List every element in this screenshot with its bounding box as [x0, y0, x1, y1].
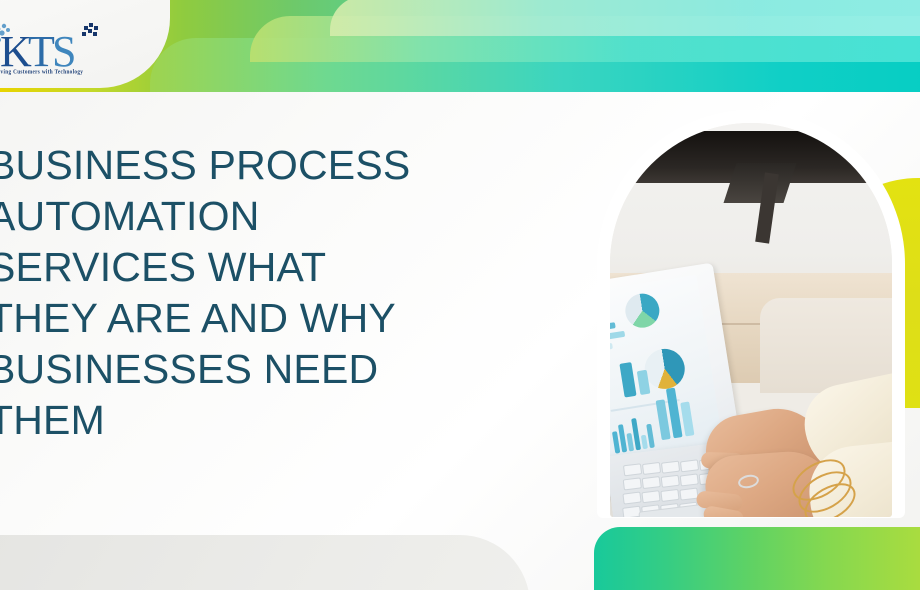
title-line: THEY ARE AND WHY — [0, 293, 548, 344]
title-line: BUSINESS PROCESS — [0, 140, 548, 191]
screen-bar — [619, 362, 636, 397]
bottom-gradient-bar — [594, 527, 920, 590]
brand-tagline: Serving Customers with Technology — [0, 69, 122, 76]
page-title: BUSINESS PROCESS AUTOMATION SERVICES WHA… — [0, 140, 548, 446]
title-line: AUTOMATION — [0, 191, 548, 242]
svg-text:T: T — [28, 27, 55, 72]
slide-canvas: K T S Serving Customers with Technology … — [0, 0, 920, 590]
screen-bar — [680, 401, 694, 436]
bottom-left-soft-shape — [0, 535, 530, 590]
screen-donut-chart — [623, 291, 662, 330]
svg-text:S: S — [52, 27, 75, 72]
screen-bar — [610, 331, 625, 342]
kts-logo-icon: K T S — [0, 20, 112, 72]
screen-bar — [641, 435, 648, 450]
title-line: SERVICES WHAT — [0, 242, 548, 293]
title-line: THEM — [0, 395, 548, 446]
hero-image — [610, 123, 892, 517]
banner-wave-layer-3 — [330, 0, 920, 36]
title-line: BUSINESSES NEED — [0, 344, 548, 395]
brand-logo[interactable]: K T S Serving Customers with Technology — [0, 20, 112, 90]
screen-bar — [610, 343, 613, 351]
screen-bar — [610, 322, 616, 331]
